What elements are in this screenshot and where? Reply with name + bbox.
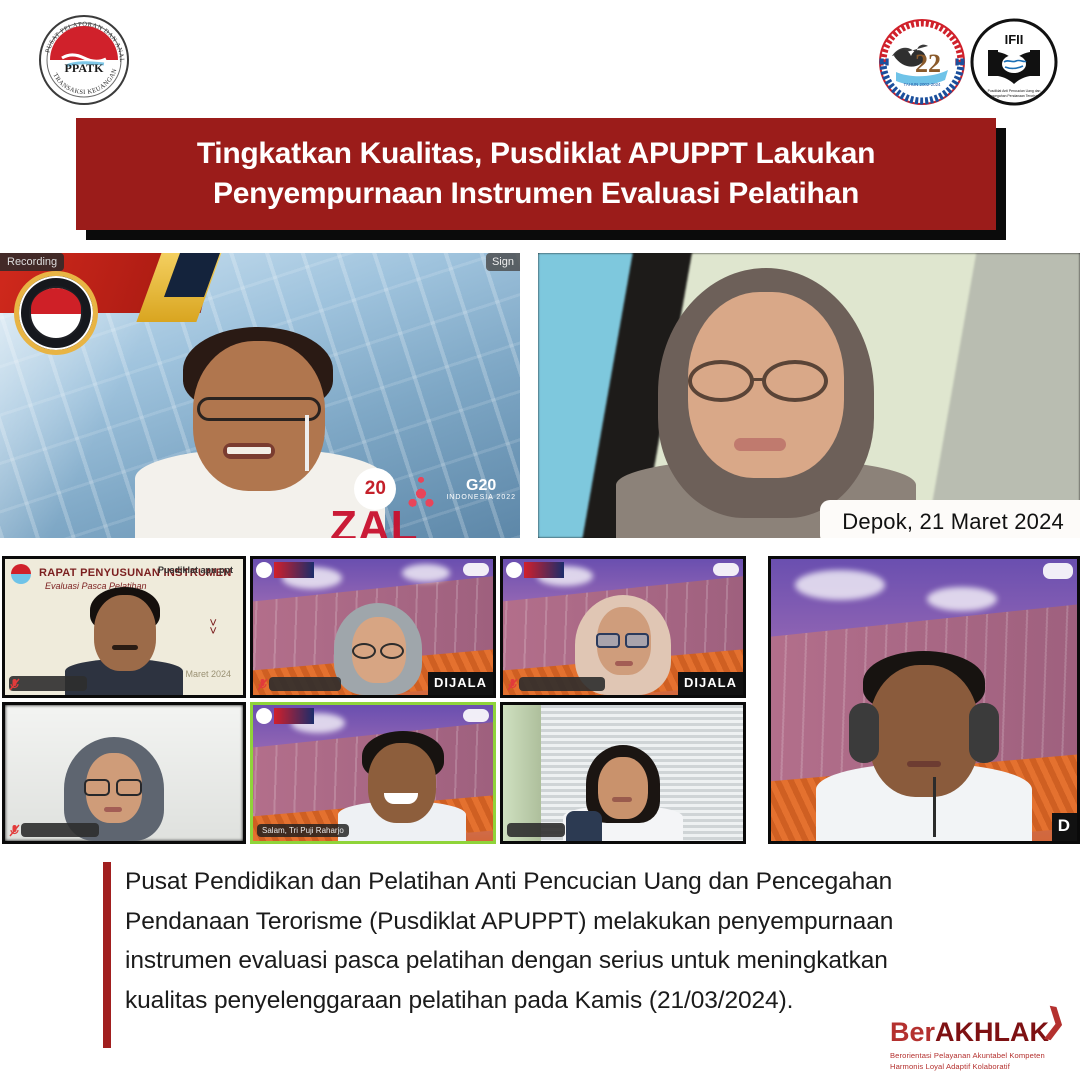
tile-participant-5: Salam, Tri Puji Raharjo: [250, 702, 496, 844]
photo-collage: Recording Sign G20INDONESIA 2022 ZAL Dep…: [0, 253, 1080, 845]
background-badge: [256, 562, 314, 578]
svg-text:IFII: IFII: [1005, 32, 1024, 47]
pusdiklat-watermark: [713, 563, 739, 576]
pusdiklat-watermark: [1043, 563, 1073, 579]
mic-muted-icon: [9, 824, 20, 837]
mic-muted-icon: [257, 678, 268, 691]
participant-name-chip: Salam, Tri Puji Raharjo: [257, 824, 349, 837]
svg-text:TAHUN 2002-2024: TAHUN 2002-2024: [903, 82, 941, 87]
background-badge: [506, 562, 564, 578]
participant-name-chip: [507, 823, 565, 837]
berakhlak-part-2: AKHLAK: [935, 1017, 1049, 1047]
berakhlak-tagline-line-2: Harmonis Loyal Adaptif Kolaboratif: [890, 1061, 1062, 1072]
title-line-1: Tingkatkan Kualitas, Pusdiklat APUPPT La…: [197, 134, 875, 175]
mic-muted-icon: [507, 678, 518, 691]
title-banner: Tingkatkan Kualitas, Pusdiklat APUPPT La…: [76, 118, 996, 230]
date-badge: Depok, 21 Maret 2024: [820, 500, 1080, 538]
dijala-watermark: D: [1052, 813, 1077, 841]
background-badge: [256, 708, 314, 724]
dijala-watermark: DIJALA: [678, 672, 743, 695]
mic-muted-icon: [9, 678, 20, 691]
participant-name-chip: [21, 823, 99, 837]
ppatk-seal-overlay-icon: [14, 271, 98, 355]
slide-logo-label: Pusdiklat apu ppt: [158, 566, 233, 576]
main-photo-right: Depok, 21 Maret 2024: [538, 253, 1080, 538]
ifii-logo: IFII Pusdiklat Anti Pencucian Uang dan P…: [968, 16, 1060, 108]
participant-name-chip: [269, 677, 341, 691]
pusdiklat-watermark: [463, 563, 489, 576]
participant-name-chip: [9, 676, 87, 691]
svg-text:Pencegahan Pendanaan Terorisme: Pencegahan Pendanaan Terorisme: [987, 94, 1040, 98]
swoosh-icon: ❯: [1042, 1003, 1069, 1039]
body-paragraph: Pusat Pendidikan dan Pelatihan Anti Penc…: [125, 862, 963, 1021]
sign-indicator: Sign: [486, 253, 520, 271]
recording-indicator: Recording: [0, 253, 64, 271]
tile-participant-main-right: D: [768, 556, 1080, 844]
tile-participant-3: DIJALA: [500, 556, 746, 698]
berakhlak-tagline: Berorientasi Pelayanan Akuntabel Kompete…: [890, 1050, 1062, 1072]
tile-participant-6: [500, 702, 746, 844]
berakhlak-part-1: Ber: [890, 1017, 935, 1047]
svg-text:22: 22: [915, 49, 941, 78]
body-accent-bar: [103, 862, 111, 1048]
main-photo-left: Recording Sign G20INDONESIA 2022 ZAL: [0, 253, 520, 538]
berakhlak-tagline-line-1: Berorientasi Pelayanan Akuntabel Kompete…: [890, 1050, 1062, 1061]
berakhlak-wordmark: BerAKHLAK ❯: [890, 1019, 1062, 1046]
svg-text:Pusdiklat Anti Pencucian Uang: Pusdiklat Anti Pencucian Uang dan: [988, 89, 1041, 93]
g20-label: G20INDONESIA 2022: [446, 478, 516, 501]
tile-presenter-male: RAPAT PENYUSUNAN INSTRUMEN Evaluasi Pasc…: [2, 556, 246, 698]
participant-name-chip: [519, 677, 605, 691]
pusdiklat-watermark: [463, 709, 489, 722]
header: PPATK PUSAT PELAPORAN DAN ANALISIS TRANS…: [0, 0, 1080, 118]
anniversary-logo: 22 TAHUN 2002-2024: [876, 16, 968, 108]
title-line-2: Penyempurnaan Instrumen Evaluasi Pelatih…: [213, 174, 859, 215]
svg-text:PPATK: PPATK: [65, 61, 105, 75]
banner-text-overlay: ZAL: [330, 502, 419, 538]
dijala-watermark: DIJALA: [428, 672, 493, 695]
tile-participant-2: DIJALA: [250, 556, 496, 698]
berakhlak-logo: BerAKHLAK ❯ Berorientasi Pelayanan Akunt…: [890, 1019, 1062, 1072]
tile-participant-4: [2, 702, 246, 844]
body-text-block: Pusat Pendidikan dan Pelatihan Anti Penc…: [103, 862, 963, 1021]
sppatk-logo: PPATK PUSAT PELAPORAN DAN ANALISIS TRANS…: [32, 14, 136, 106]
